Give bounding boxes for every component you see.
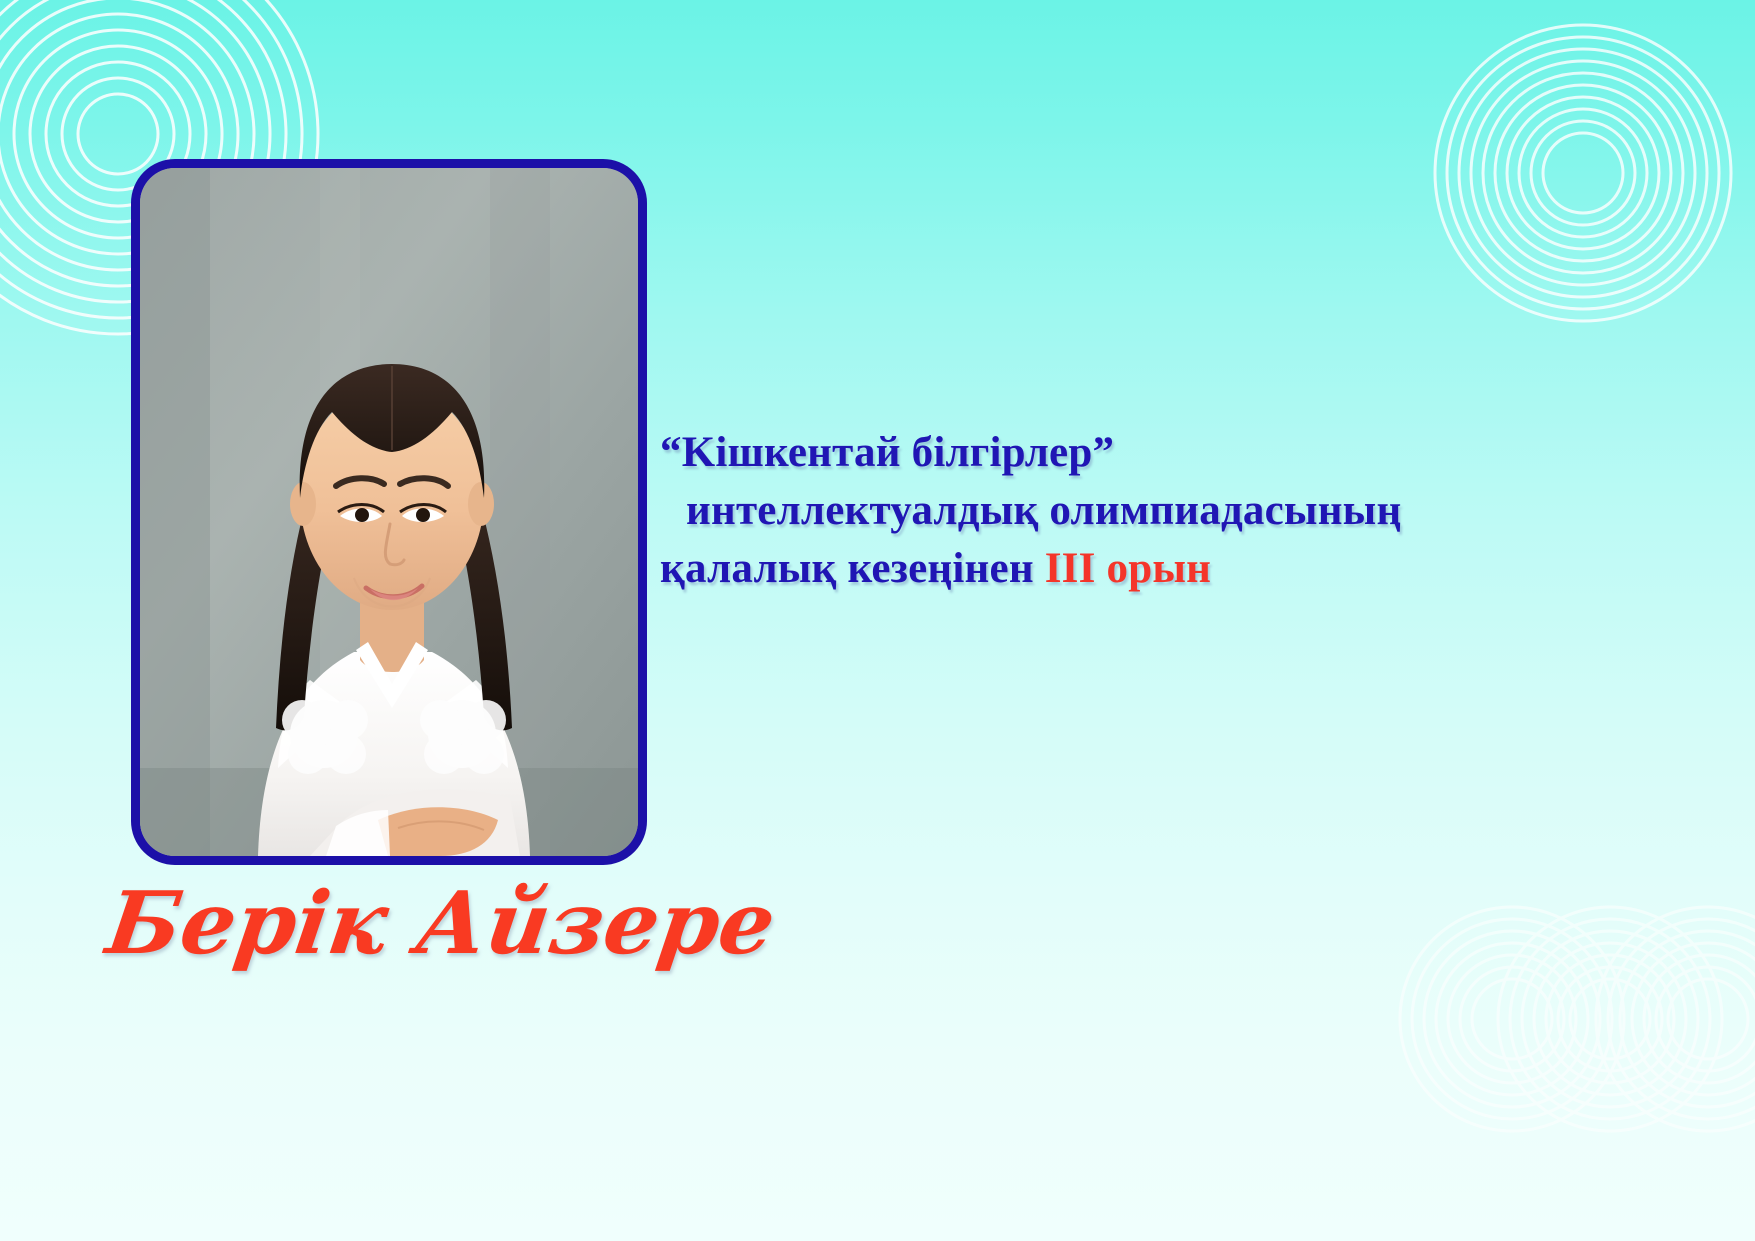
student-photo (140, 168, 638, 856)
slide-canvas: “Kішкентай білгірлер” интеллектуалдық ол… (0, 0, 1755, 1241)
student-photo-frame (131, 159, 647, 865)
triple-concentric-rings-icon-bottom-right (1280, 852, 1755, 1152)
student-name-signature: Берік Айзере (100, 869, 715, 979)
award-line-title: “Kішкентай білгірлер” (660, 424, 1740, 482)
award-line-place: қалалық кезеңінен III орын (660, 540, 1740, 598)
award-place-badge: III орын (1045, 545, 1211, 592)
concentric-rings-icon-top-right (1408, 8, 1755, 338)
award-text-block: “Kішкентай білгірлер” интеллектуалдық ол… (660, 424, 1740, 598)
award-line-olympiad: интеллектуалдық олимпиадасының (660, 482, 1740, 540)
award-stage-label: қалалық кезеңінен (660, 545, 1045, 592)
